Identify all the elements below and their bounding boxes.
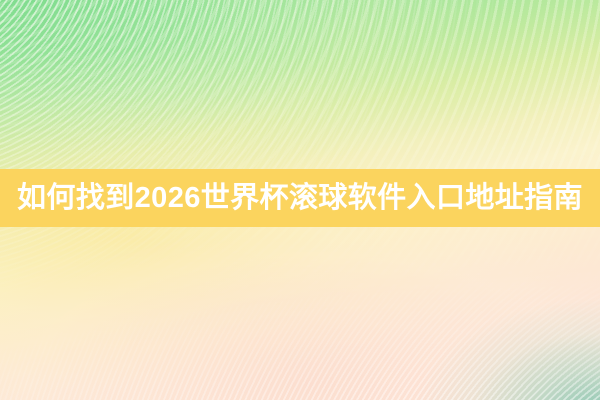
- banner-title: 如何找到2026世界杯滚球软件入口地址指南: [17, 184, 583, 213]
- promo-banner: 如何找到2026世界杯滚球软件入口地址指南: [0, 0, 600, 400]
- title-band: 如何找到2026世界杯滚球软件入口地址指南: [0, 169, 600, 227]
